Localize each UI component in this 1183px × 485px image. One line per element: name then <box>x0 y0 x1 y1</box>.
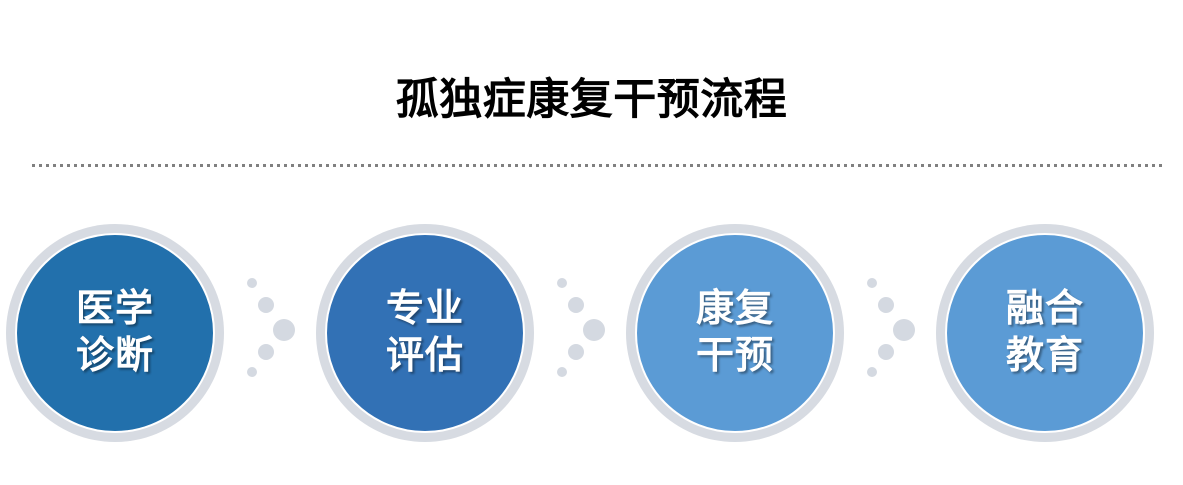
step-label-line2: 评估 <box>386 333 464 380</box>
connector-dot-icon <box>557 367 567 377</box>
connector-dot-icon <box>878 344 894 360</box>
flow-step-rehabilitation-intervention[interactable]: 康复 干预 <box>626 224 844 442</box>
connector-dots-3 <box>863 278 925 378</box>
step-label-line1: 医学 <box>76 286 154 333</box>
connector-dot-icon <box>568 344 584 360</box>
page-title: 孤独症康复干预流程 <box>0 74 1183 126</box>
connector-dot-icon <box>247 278 257 288</box>
connector-dot-icon <box>568 297 584 313</box>
dotted-divider <box>32 164 1165 167</box>
connector-dot-icon <box>247 367 257 377</box>
step-disc: 医学 诊断 <box>15 233 215 433</box>
connector-dot-icon <box>273 319 295 341</box>
connector-dot-icon <box>867 278 877 288</box>
connector-dot-icon <box>583 319 605 341</box>
slide-canvas: 孤独症康复干预流程 医学 诊断 专业 评估 <box>0 0 1183 485</box>
step-label-line1: 融合 <box>1006 286 1084 333</box>
step-label-line2: 诊断 <box>76 333 154 380</box>
flow-step-medical-diagnosis[interactable]: 医学 诊断 <box>6 224 224 442</box>
connector-dots-2 <box>553 278 615 378</box>
step-disc: 专业 评估 <box>325 233 525 433</box>
connector-dot-icon <box>258 344 274 360</box>
connector-dot-icon <box>867 367 877 377</box>
connector-dot-icon <box>878 297 894 313</box>
connector-dot-icon <box>258 297 274 313</box>
step-disc: 康复 干预 <box>635 233 835 433</box>
connector-dot-icon <box>893 319 915 341</box>
step-disc: 融合 教育 <box>945 233 1145 433</box>
flow-step-inclusive-education[interactable]: 融合 教育 <box>936 224 1154 442</box>
step-label-line2: 干预 <box>696 333 774 380</box>
flow-step-professional-assessment[interactable]: 专业 评估 <box>316 224 534 442</box>
step-label-line2: 教育 <box>1006 333 1084 380</box>
connector-dots-1 <box>243 278 305 378</box>
connector-dot-icon <box>557 278 567 288</box>
step-label-line1: 康复 <box>696 286 774 333</box>
process-flow-diagram: 医学 诊断 专业 评估 <box>0 218 1183 458</box>
step-label-line1: 专业 <box>386 286 464 333</box>
